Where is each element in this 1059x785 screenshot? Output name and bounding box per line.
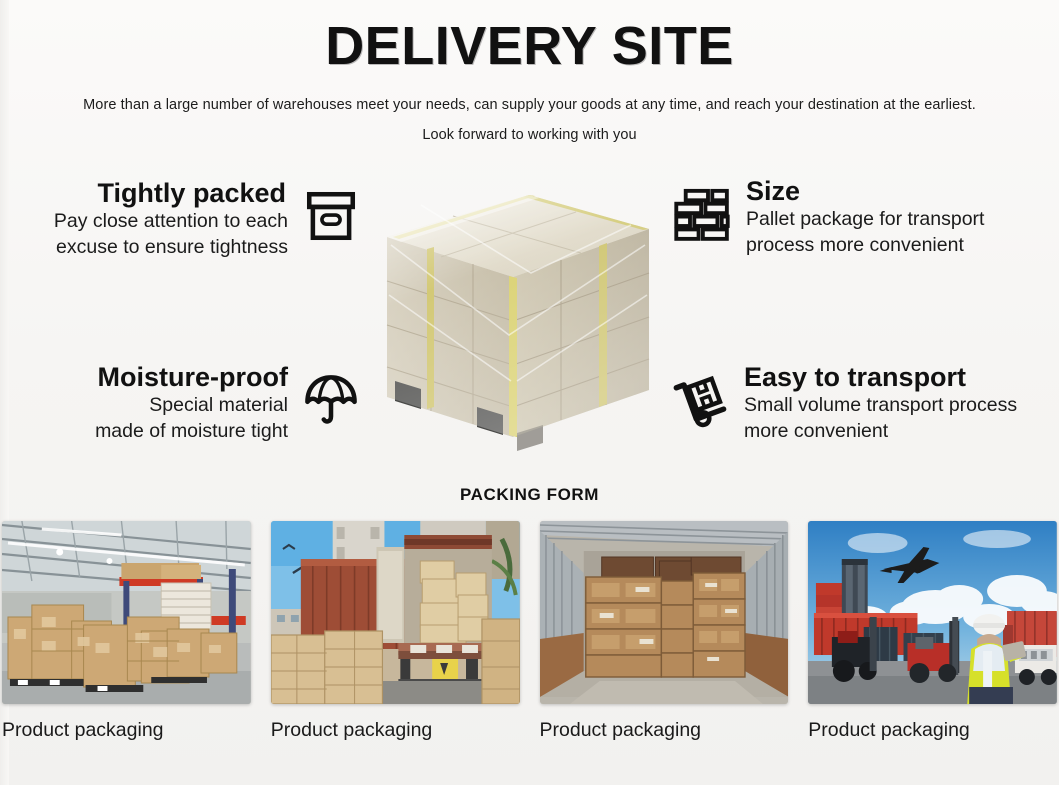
packing-form-heading: PACKING FORM xyxy=(0,485,1059,505)
feature-desc-line-2: made of moisture tight xyxy=(95,420,288,444)
archive-box-icon xyxy=(302,187,360,250)
packing-form-gallery: Product packaging xyxy=(0,521,1059,741)
gallery-item-caption: Product packaging xyxy=(271,720,520,741)
feature-size: Size Pallet package for transport proces… xyxy=(672,176,1059,258)
gallery-item-caption: Product packaging xyxy=(540,720,789,741)
delivery-site-page: DELIVERY SITE More than a large number o… xyxy=(0,0,1059,785)
feature-desc-line-2: process more convenient xyxy=(746,234,984,258)
warehouse-interior-photo[interactable] xyxy=(2,521,251,704)
gallery-item-caption: Product packaging xyxy=(2,720,251,741)
feature-title: Moisture-proof xyxy=(95,362,288,392)
umbrella-icon xyxy=(302,371,360,434)
feature-easy-to-transport: Easy to transport Small volume transport… xyxy=(672,362,1059,444)
feature-tightly-packed: Tightly packed Pay close attention to ea… xyxy=(0,178,360,260)
hero-pallet-image xyxy=(381,185,656,452)
page-header: DELIVERY SITE More than a large number o… xyxy=(0,0,1059,143)
hand-truck-icon xyxy=(672,371,730,434)
feature-desc-line-2: more convenient xyxy=(744,420,1017,444)
feature-desc-line-1: Pallet package for transport xyxy=(746,208,984,232)
brick-wall-icon xyxy=(672,187,732,246)
page-subtitle-line-2: Look forward to working with you xyxy=(0,127,1059,143)
feature-desc-line-1: Special material xyxy=(95,394,288,418)
feature-desc-line-1: Small volume transport process xyxy=(744,394,1017,418)
feature-title: Size xyxy=(746,176,984,206)
feature-moisture-proof: Moisture-proof Special material made of … xyxy=(18,362,360,444)
gallery-item[interactable]: Product packaging xyxy=(808,521,1057,741)
page-title: DELIVERY SITE xyxy=(0,18,1059,75)
feature-desc-line-2: excuse to ensure tightness xyxy=(54,236,288,260)
gallery-item-caption: Product packaging xyxy=(808,720,1057,741)
feature-title: Tightly packed xyxy=(54,178,286,208)
gallery-item[interactable]: Product packaging xyxy=(271,521,520,741)
feature-desc-line-1: Pay close attention to each xyxy=(54,210,288,234)
feature-text: Easy to transport Small volume transport… xyxy=(744,362,1017,444)
container-interior-photo[interactable] xyxy=(540,521,789,704)
page-subtitle-line-1: More than a large number of warehouses m… xyxy=(0,97,1059,113)
feature-text: Size Pallet package for transport proces… xyxy=(746,176,984,258)
port-yard-photo[interactable] xyxy=(808,521,1057,704)
gallery-item[interactable]: Product packaging xyxy=(540,521,789,741)
feature-text: Moisture-proof Special material made of … xyxy=(95,362,288,444)
feature-title: Easy to transport xyxy=(744,362,1017,392)
feature-text: Tightly packed Pay close attention to ea… xyxy=(54,178,288,260)
gallery-item[interactable]: Product packaging xyxy=(2,521,251,741)
container-loading-photo[interactable] xyxy=(271,521,520,704)
